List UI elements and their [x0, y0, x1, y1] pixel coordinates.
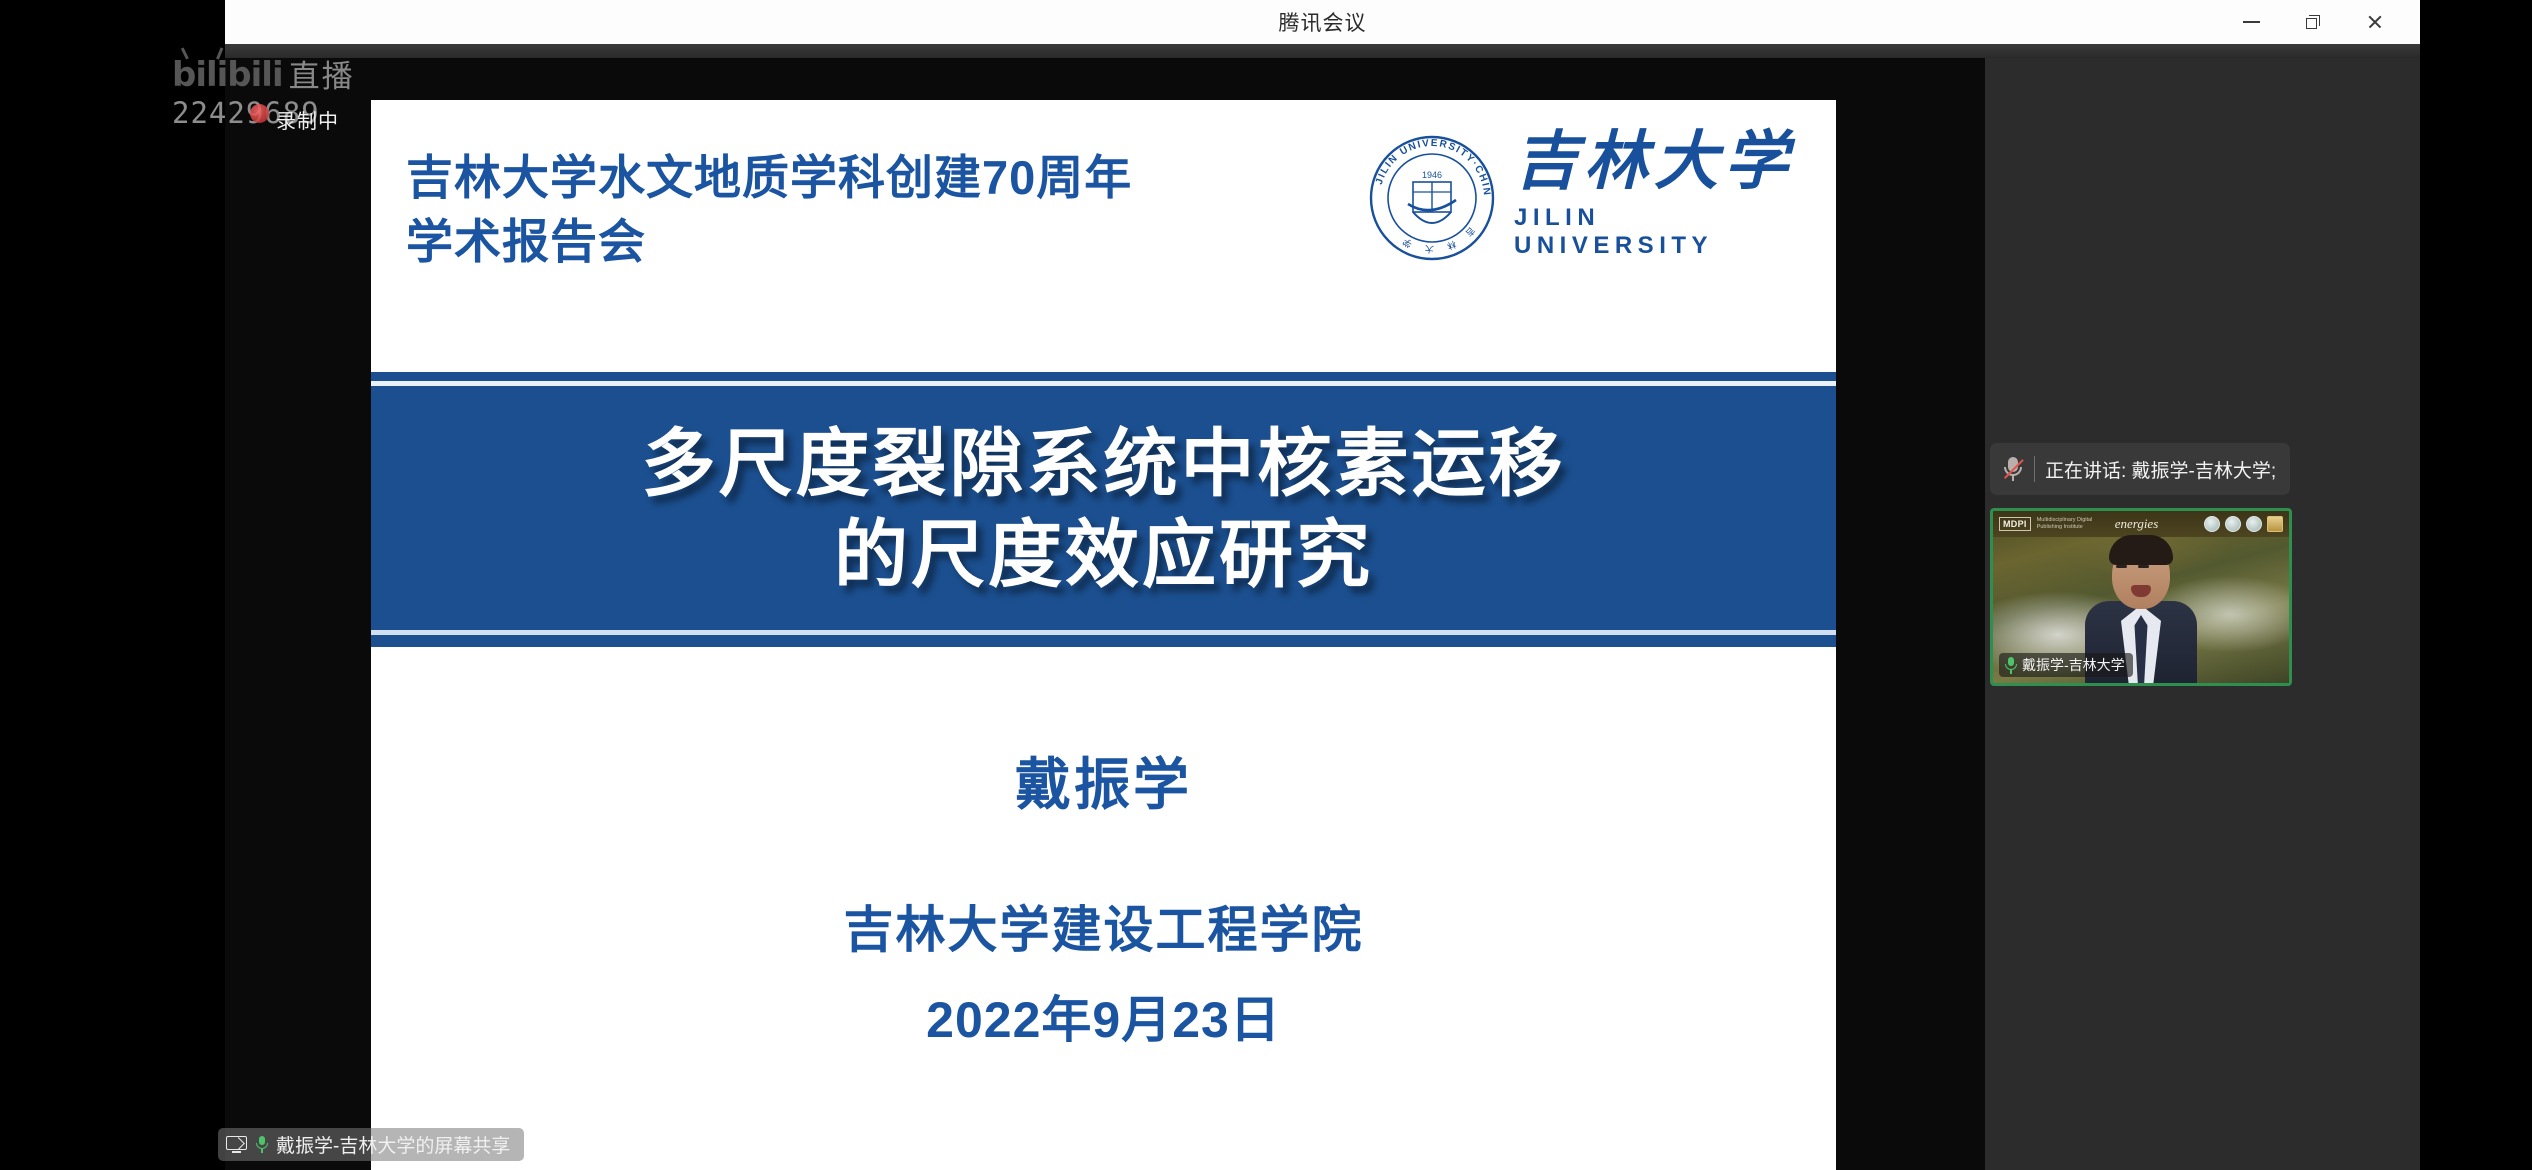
- presenter-name: 戴振学: [371, 740, 1836, 821]
- window-controls: [2220, 0, 2406, 44]
- bilibili-room-id: 22429689: [172, 96, 372, 130]
- screen-share-icon: [226, 1136, 247, 1153]
- active-speaker-text: 正在讲话: 戴振学-吉林大学; 张...: [2045, 456, 2278, 483]
- participant-video-tile[interactable]: MDPI Multidisciplinary Digital Publishin…: [1990, 508, 2292, 686]
- close-button[interactable]: [2344, 0, 2406, 44]
- microphone-muted-icon: [2002, 455, 2024, 483]
- jlu-wordmark-en: JILIN UNIVERSITY: [1514, 204, 1798, 260]
- bilibili-live-watermark: bilibili 直播 22429689 录制中: [172, 58, 372, 144]
- index-seal-icon-4: [2267, 516, 2283, 532]
- mdpi-logo: MDPI: [1999, 517, 2031, 531]
- active-speaker-indicator: 正在讲话: 戴振学-吉林大学; 张...: [1990, 443, 2290, 495]
- close-icon: [2367, 14, 2383, 30]
- minimize-icon: [2243, 21, 2260, 23]
- window-title: 腾讯会议: [225, 7, 2420, 37]
- bilibili-brand-row: bilibili 直播: [172, 58, 372, 92]
- svg-text:1946: 1946: [1422, 170, 1442, 180]
- banner-rule-bottom: [371, 630, 1836, 635]
- jlu-wordmark: 吉林大学 JILIN UNIVERSITY: [1514, 130, 1798, 260]
- presenter-date: 2022年9月23日: [371, 980, 1836, 1052]
- participant-name: 戴振学-吉林大学: [2022, 655, 2125, 675]
- screen-root: 腾讯会议: [0, 0, 2532, 1170]
- indicator-divider: [2034, 456, 2035, 482]
- index-seal-icon-1: [2204, 516, 2220, 532]
- slide-heading: 吉林大学水文地质学科创建70周年 学术报告会: [406, 146, 1226, 274]
- meeting-toolbar-strip: [225, 44, 2420, 58]
- participant-name-badge: 戴振学-吉林大学: [1999, 653, 2133, 677]
- restore-button[interactable]: [2282, 0, 2344, 44]
- bilibili-live-label: 直播: [289, 61, 355, 92]
- recording-label: 录制中: [276, 105, 339, 134]
- index-seal-icon-2: [2225, 516, 2241, 532]
- svg-text:JILIN UNIVERSITY·CHINA: JILIN UNIVERSITY·CHINA: [1368, 134, 1492, 197]
- index-seal-icon-3: [2246, 516, 2262, 532]
- microphone-on-icon: [2004, 657, 2017, 674]
- mdpi-subtitle: Multidisciplinary Digital Publishing Ins…: [2037, 517, 2099, 531]
- window-titlebar[interactable]: 腾讯会议: [225, 0, 2420, 44]
- screen-share-status-bar: 戴振学-吉林大学的屏幕共享: [218, 1128, 524, 1161]
- bilibili-logo: bilibili: [172, 58, 283, 92]
- journal-index-seals: [2204, 516, 2283, 532]
- screen-share-status-text: 戴振学-吉林大学的屏幕共享: [276, 1131, 510, 1158]
- jlu-wordmark-cn: 吉林大学: [1514, 130, 1798, 194]
- slide-header: 吉林大学水文地质学科创建70周年 学术报告会 JILIN UNIVERSITY·…: [371, 100, 1836, 374]
- jilin-university-logo: JILIN UNIVERSITY·CHINA 吉 林 大 学 1946: [1368, 128, 1798, 268]
- minimize-button[interactable]: [2220, 0, 2282, 44]
- shared-screen-stage: 吉林大学水文地质学科创建70周年 学术报告会 JILIN UNIVERSITY·…: [371, 100, 1836, 1170]
- restore-icon: [2306, 15, 2320, 29]
- banner-rule-top: [371, 381, 1836, 386]
- banner-line-2: 的尺度效应研究: [834, 510, 1373, 600]
- virtual-background-banner: MDPI Multidisciplinary Digital Publishin…: [1993, 511, 2289, 537]
- presenter-organization: 吉林大学建设工程学院: [371, 890, 1836, 962]
- share-microphone-on-icon: [255, 1136, 268, 1153]
- energies-journal-title: energies: [2115, 516, 2159, 532]
- slide-title-banner: 多尺度裂隙系统中核素运移 的尺度效应研究: [371, 372, 1836, 647]
- slide-heading-line-2: 学术报告会: [406, 210, 1226, 274]
- recording-indicator-dot: [250, 104, 269, 123]
- svg-text:吉 林 大 学: 吉 林 大 学: [1396, 225, 1477, 255]
- presentation-slide: 吉林大学水文地质学科创建70周年 学术报告会 JILIN UNIVERSITY·…: [371, 100, 1836, 1170]
- banner-line-1: 多尺度裂隙系统中核素运移: [642, 419, 1566, 509]
- jlu-seal-icon: JILIN UNIVERSITY·CHINA 吉 林 大 学 1946: [1368, 134, 1496, 262]
- slide-heading-line-1: 吉林大学水文地质学科创建70周年: [406, 146, 1226, 210]
